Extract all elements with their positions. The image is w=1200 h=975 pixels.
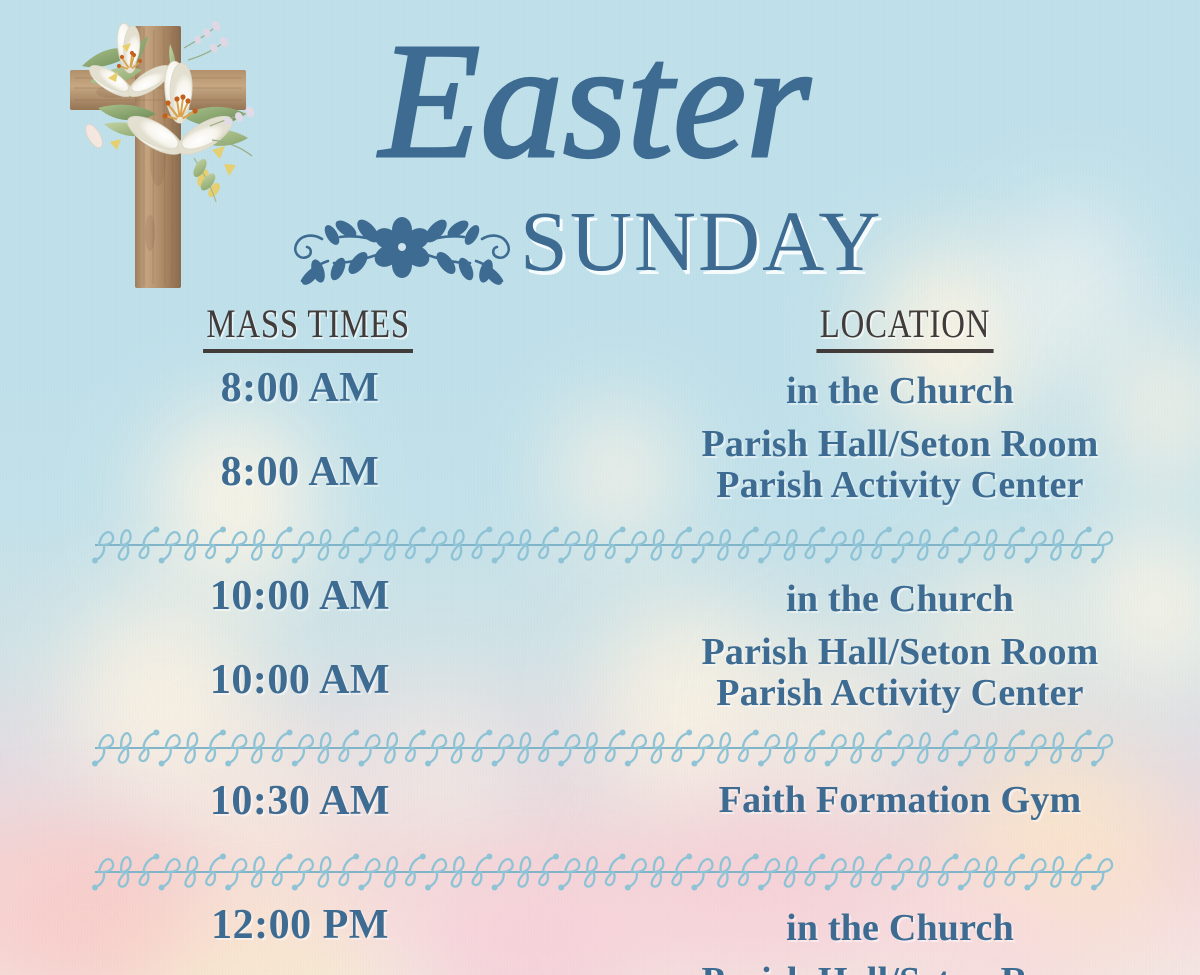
mass-location: in the Church xyxy=(600,371,1200,412)
mass-time: 8:00 AM xyxy=(0,367,600,409)
group-locations: in the Church Parish Hall/Seton Room Par… xyxy=(600,579,1200,714)
location-header: LOCATION xyxy=(816,300,993,353)
group-locations: Faith Formation Gym xyxy=(600,780,1200,821)
group-locations: in the Church Parish Hall/Seton Room Par… xyxy=(600,371,1200,506)
mass-location: Parish Hall/Seton Room xyxy=(600,961,1200,975)
subtitle-sunday: SUNDAY xyxy=(520,198,940,284)
group-locations: in the Church Parish Hall/Seton Room Par… xyxy=(600,908,1200,975)
mass-location: Parish Activity Center xyxy=(600,465,1200,506)
mass-location: Parish Activity Center xyxy=(600,673,1200,714)
mass-location: Parish Hall/Seton Room xyxy=(600,424,1200,465)
mass-location: in the Church xyxy=(600,579,1200,620)
location-header-cell: LOCATION xyxy=(600,300,1200,353)
vine-divider xyxy=(95,728,1105,768)
cross-with-lilies-icon xyxy=(52,8,282,298)
vine-divider xyxy=(95,852,1105,892)
mass-times-header-cell: MASS TIMES xyxy=(0,300,600,353)
group-times: 10:30 AM xyxy=(0,780,600,822)
mass-schedule: MASS TIMES LOCATION 8:00 AM 8:00 AM in t… xyxy=(0,300,1200,975)
schedule-group: 12:00 PM 12:00 PM in the Church Parish H… xyxy=(0,892,1200,975)
schedule-group: 10:30 AM Faith Formation Gym xyxy=(0,768,1200,848)
mass-time: 10:30 AM xyxy=(0,780,600,822)
group-times: 12:00 PM 12:00 PM xyxy=(0,904,600,975)
floral-flourish-icon xyxy=(272,203,532,285)
mass-times-header: MASS TIMES xyxy=(203,300,413,353)
schedule-group: 8:00 AM 8:00 AM in the Church Parish Hal… xyxy=(0,359,1200,509)
schedule-group: 10:00 AM 10:00 AM in the Church Parish H… xyxy=(0,565,1200,720)
easter-sunday-poster: Easter xyxy=(0,0,1200,975)
mass-time: 12:00 PM xyxy=(0,904,600,946)
group-times: 8:00 AM 8:00 AM xyxy=(0,367,600,493)
mass-location: Faith Formation Gym xyxy=(600,780,1200,821)
page-title: Easter xyxy=(255,8,935,208)
mass-location: in the Church xyxy=(600,908,1200,949)
mass-time: 8:00 AM xyxy=(0,451,600,493)
mass-time: 10:00 AM xyxy=(0,575,600,617)
easter-script-text: Easter xyxy=(378,9,812,192)
mass-location: Parish Hall/Seton Room xyxy=(600,632,1200,673)
vine-divider xyxy=(95,525,1105,565)
group-times: 10:00 AM 10:00 AM xyxy=(0,575,600,701)
schedule-header-row: MASS TIMES LOCATION xyxy=(0,300,1200,359)
mass-time: 10:00 AM xyxy=(0,659,600,701)
